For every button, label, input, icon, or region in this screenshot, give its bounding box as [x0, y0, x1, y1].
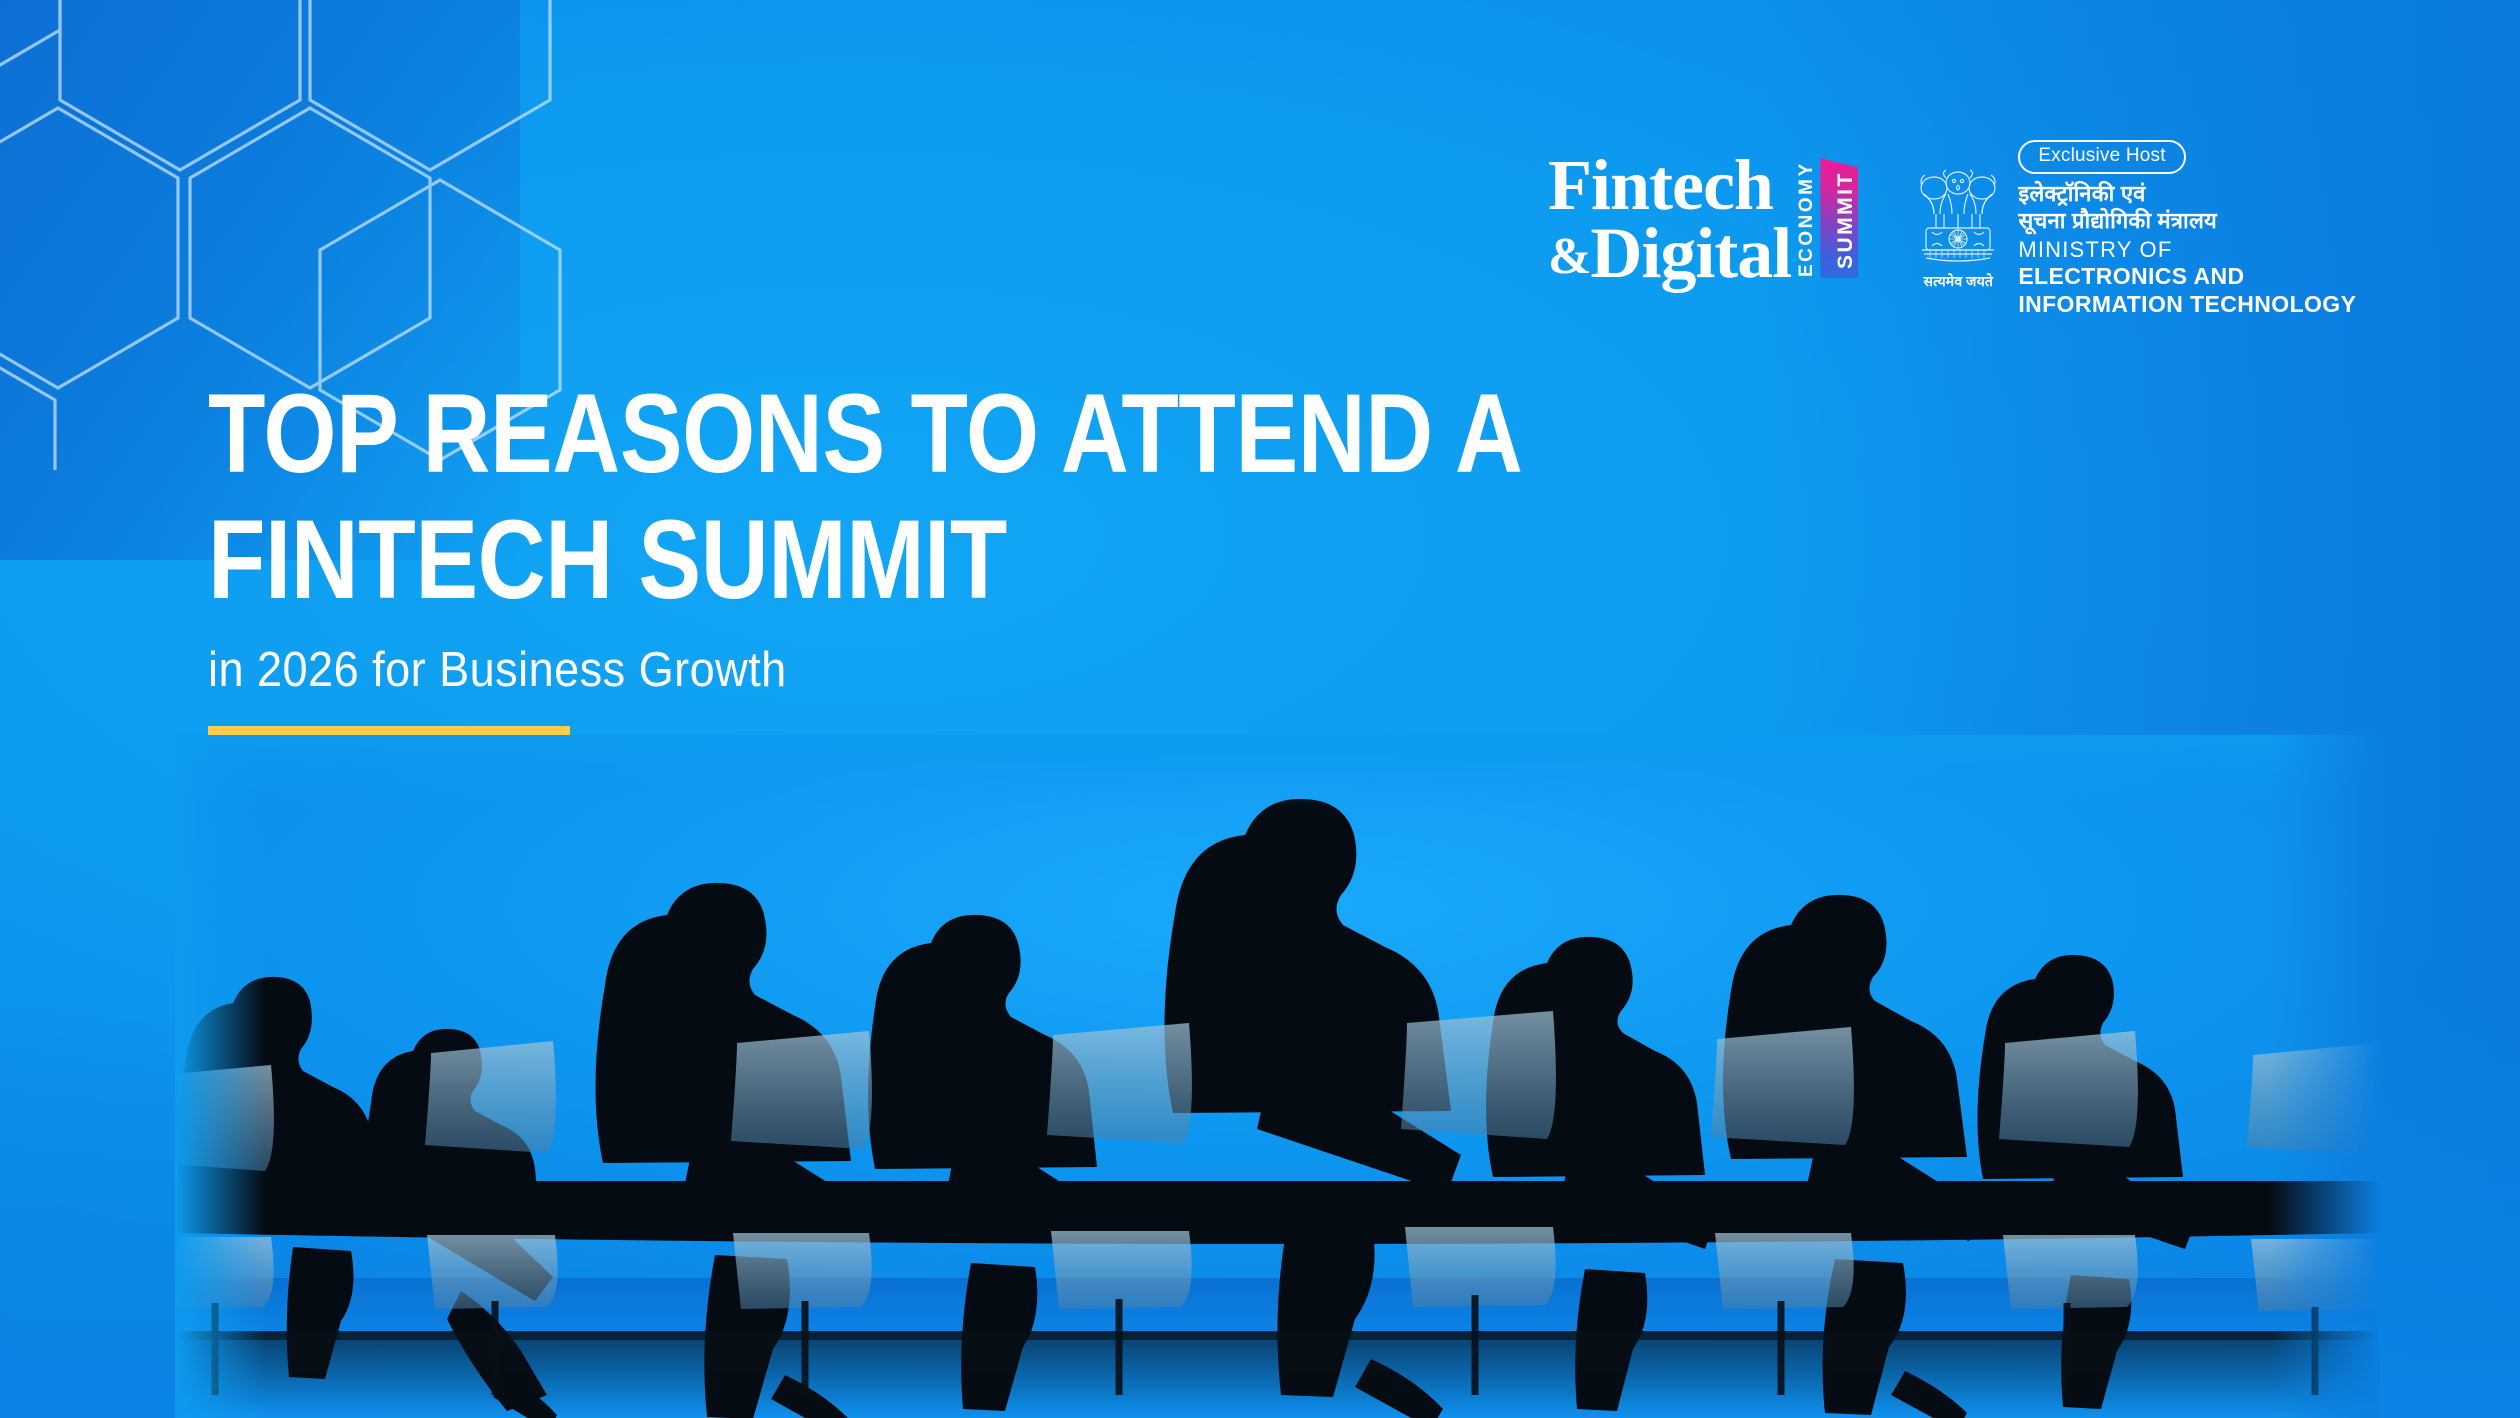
ministry-hindi-line-2: सूचना प्रौद्योगिकी मंत्रालय	[2018, 208, 2356, 235]
summit-flag-shape: SUMMIT	[1820, 158, 1858, 278]
photo-left-fade	[175, 735, 265, 1418]
ashoka-lion-capital-icon	[1916, 166, 2000, 270]
logo-vertical-summit: SUMMIT	[1820, 158, 1858, 278]
logo-line-digital: &Digital	[1548, 220, 1791, 288]
fintech-digital-economy-summit-logo[interactable]: Fintech &Digital ECONOMY SUMMIT	[1548, 140, 1858, 287]
logo-digital-text: Digital	[1590, 213, 1791, 293]
ministry-english-line-1: MINISTRY OF	[2018, 237, 2356, 264]
logo-ampersand: &	[1548, 228, 1590, 285]
exclusive-host-badge: Exclusive Host	[2018, 140, 2185, 174]
ministry-english-line-2: ELECTRONICS AND	[2018, 263, 2356, 291]
hero-text-block: TOP REASONS TO ATTEND A FINTECH SUMMIT i…	[208, 378, 1508, 746]
ministry-text-block: Exclusive Host इलेक्ट्रॉनिकी एवं सूचना प…	[2018, 140, 2356, 319]
boardroom-silhouette-photo	[175, 735, 2380, 1418]
ministry-hindi-line-1: इलेक्ट्रॉनिकी एवं	[2018, 181, 2356, 208]
emblem-motto-text: सत्यमेव जयते	[1924, 272, 1994, 291]
ministry-english-line-3: INFORMATION TECHNOLOGY	[2018, 291, 2356, 319]
logo-row: Fintech &Digital ECONOMY SUMMIT	[1548, 140, 2356, 319]
photo-top-fade	[175, 735, 2380, 805]
page-title: TOP REASONS TO ATTEND A FINTECH SUMMIT	[208, 378, 1300, 616]
subheadline: in 2026 for Business Growth	[208, 642, 1404, 698]
fintech-digital-wordmark: Fintech &Digital	[1548, 152, 1791, 287]
silhouette-figures-icon	[175, 735, 2380, 1418]
economy-summit-flag: ECONOMY SUMMIT	[1797, 158, 1858, 278]
slide-canvas: Fintech &Digital ECONOMY SUMMIT	[0, 0, 2520, 1418]
ministry-of-electronics-it-logo[interactable]: सत्यमेव जयते Exclusive Host इलेक्ट्रॉनिक…	[1910, 140, 2356, 319]
emblem-column: सत्यमेव जयते	[1910, 140, 2006, 291]
headline-line-2: FINTECH SUMMIT	[208, 504, 1300, 616]
headline-line-1: TOP REASONS TO ATTEND A	[208, 378, 1300, 490]
logo-vertical-economy: ECONOMY	[1797, 160, 1816, 278]
photo-right-fade	[2270, 735, 2380, 1418]
logo-line-fintech: Fintech	[1548, 152, 1791, 220]
